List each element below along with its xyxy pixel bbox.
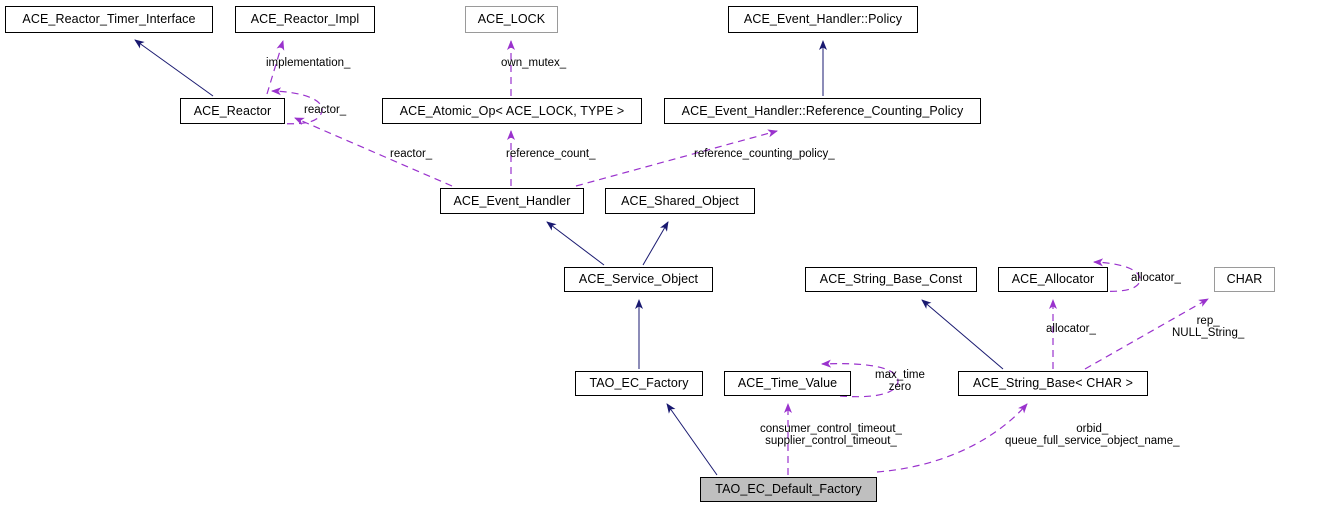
node-ace-atomic-op[interactable]: ACE_Atomic_Op< ACE_LOCK, TYPE > bbox=[382, 98, 642, 124]
edge-label-rep-null-string: rep_ NULL_String_ bbox=[1172, 315, 1244, 339]
node-label: ACE_LOCK bbox=[478, 13, 546, 26]
edge-label-consumer-supplier-timeouts: consumer_control_timeout_ supplier_contr… bbox=[760, 423, 902, 447]
node-label: TAO_EC_Factory bbox=[589, 377, 688, 390]
edge-label-reactor-self: reactor_ bbox=[304, 104, 346, 116]
edge-reactor-to-timer-interface bbox=[135, 40, 213, 96]
node-ace-event-handler-policy[interactable]: ACE_Event_Handler::Policy bbox=[728, 6, 918, 33]
node-ace-reactor-timer-interface[interactable]: ACE_Reactor_Timer_Interface bbox=[5, 6, 213, 33]
edge-label-reference-counting-policy: reference_counting_policy_ bbox=[694, 148, 835, 160]
edge-label-max-time-zero: max_time zero bbox=[875, 369, 925, 393]
node-label: ACE_Reactor_Timer_Interface bbox=[22, 13, 195, 26]
node-char[interactable]: CHAR bbox=[1214, 267, 1275, 292]
node-label: ACE_Event_Handler bbox=[453, 195, 570, 208]
edge-service-object-to-event-handler bbox=[547, 222, 604, 265]
node-label: ACE_Reactor bbox=[194, 105, 272, 118]
node-tao-ec-default-factory[interactable]: TAO_EC_Default_Factory bbox=[700, 477, 877, 502]
node-label: ACE_Service_Object bbox=[579, 273, 698, 286]
node-ace-event-handler[interactable]: ACE_Event_Handler bbox=[440, 188, 584, 214]
edge-label-implementation: implementation_ bbox=[266, 57, 350, 69]
node-label: ACE_Time_Value bbox=[738, 377, 837, 390]
node-ace-lock[interactable]: ACE_LOCK bbox=[465, 6, 558, 33]
edge-label-allocator-self: allocator_ bbox=[1131, 272, 1181, 284]
node-label: CHAR bbox=[1227, 273, 1263, 286]
node-ace-event-handler-reference-counting-policy[interactable]: ACE_Event_Handler::Reference_Counting_Po… bbox=[664, 98, 981, 124]
node-label: ACE_Reactor_Impl bbox=[251, 13, 360, 26]
edge-label-own-mutex: own_mutex_ bbox=[501, 57, 566, 69]
node-ace-string-base-char[interactable]: ACE_String_Base< CHAR > bbox=[958, 371, 1148, 396]
edge-label-allocator: allocator_ bbox=[1046, 323, 1096, 335]
edge-label-reference-count: reference_count_ bbox=[506, 148, 596, 160]
node-label: ACE_String_Base< CHAR > bbox=[973, 377, 1133, 390]
node-ace-shared-object[interactable]: ACE_Shared_Object bbox=[605, 188, 755, 214]
node-ace-time-value[interactable]: ACE_Time_Value bbox=[724, 371, 851, 396]
edge-label-reactor: reactor_ bbox=[390, 148, 432, 160]
node-ace-reactor-impl[interactable]: ACE_Reactor_Impl bbox=[235, 6, 375, 33]
edge-label-orbid-queue-full: orbid_ queue_full_service_object_name_ bbox=[1005, 423, 1180, 447]
uml-collaboration-diagram: ACE_Reactor_Timer_Interface ACE_Reactor_… bbox=[0, 0, 1333, 507]
node-ace-service-object[interactable]: ACE_Service_Object bbox=[564, 267, 713, 292]
node-ace-string-base-const[interactable]: ACE_String_Base_Const bbox=[805, 267, 977, 292]
node-label: TAO_EC_Default_Factory bbox=[715, 483, 861, 496]
node-label: ACE_Event_Handler::Policy bbox=[744, 13, 902, 26]
node-label: ACE_Shared_Object bbox=[621, 195, 739, 208]
node-ace-allocator[interactable]: ACE_Allocator bbox=[998, 267, 1108, 292]
node-label: ACE_Event_Handler::Reference_Counting_Po… bbox=[682, 105, 964, 118]
edge-default-factory-to-ec-factory bbox=[667, 404, 717, 475]
node-label: ACE_Allocator bbox=[1012, 273, 1095, 286]
node-ace-reactor[interactable]: ACE_Reactor bbox=[180, 98, 285, 124]
node-tao-ec-factory[interactable]: TAO_EC_Factory bbox=[575, 371, 703, 396]
node-label: ACE_String_Base_Const bbox=[820, 273, 962, 286]
edge-service-object-to-shared-object bbox=[643, 222, 668, 265]
node-label: ACE_Atomic_Op< ACE_LOCK, TYPE > bbox=[400, 105, 625, 118]
edge-string-base-to-string-base-const bbox=[922, 300, 1003, 369]
